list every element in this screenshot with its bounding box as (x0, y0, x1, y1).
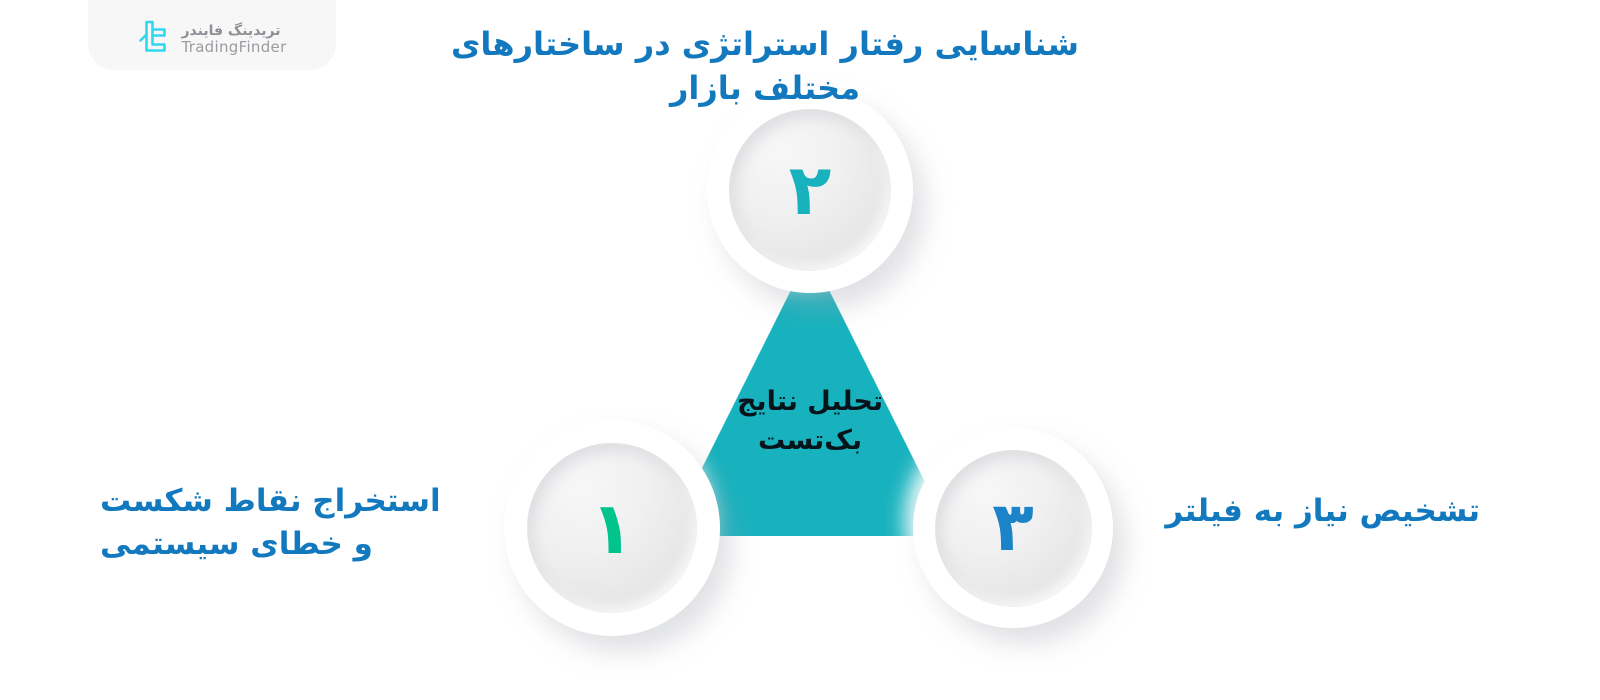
label-left-line-1: استخراج نقاط شکست (100, 480, 490, 523)
brand-name-en: TradingFinder (181, 39, 286, 56)
infographic-canvas: تریدینگ فایندر TradingFinder ۲ ۱ (0, 0, 1600, 700)
brand-watermark-plate: تریدینگ فایندر TradingFinder (88, 0, 336, 70)
step-circle-2[interactable]: ۲ (707, 87, 913, 293)
step-number-3: ۳ (992, 494, 1034, 562)
label-right: تشخیص نیاز به فیلتر (1130, 490, 1480, 533)
step-circle-1[interactable]: ۱ (504, 420, 720, 636)
center-title-line-2: بک‌تست (690, 421, 930, 460)
brand-text-block: تریدینگ فایندر TradingFinder (181, 24, 286, 56)
brand-lockup: تریدینگ فایندر TradingFinder (137, 20, 286, 60)
tradingfinder-monogram-icon (137, 20, 171, 60)
step-circle-3[interactable]: ۳ (913, 428, 1113, 628)
label-top: شناسایی رفتار استراتژی در ساختارهای مختل… (400, 22, 1130, 110)
step-circle-1-face: ۱ (527, 443, 697, 613)
center-title: تحلیل نتایج بک‌تست (690, 382, 930, 460)
step-number-2: ۲ (789, 155, 832, 225)
label-left: استخراج نقاط شکست و خطای سیستمی (100, 480, 490, 566)
brand-name-fa: تریدینگ فایندر (181, 24, 280, 40)
center-title-line-1: تحلیل نتایج (690, 382, 930, 421)
label-left-line-2: و خطای سیستمی (100, 523, 490, 566)
step-circle-3-face: ۳ (935, 450, 1092, 607)
step-number-1: ۱ (590, 492, 634, 564)
step-circle-2-face: ۲ (729, 109, 891, 271)
